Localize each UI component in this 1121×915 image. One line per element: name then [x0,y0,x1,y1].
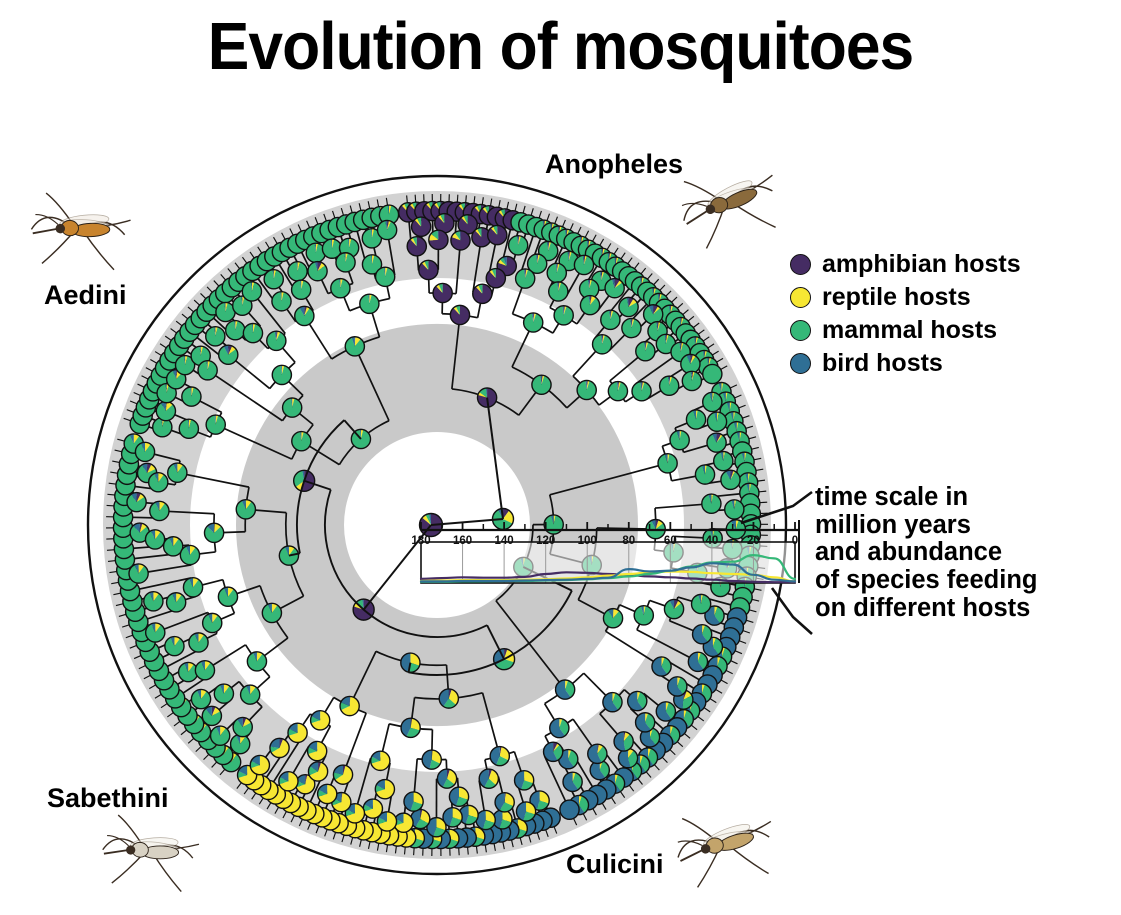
legend-item-reptile: reptile hosts [790,281,1090,314]
legend-label-bird: bird hosts [822,351,943,376]
legend-swatch-bird [790,353,811,374]
legend-label-reptile: reptile hosts [822,285,971,310]
legend-label-amphibian: amphibian hosts [822,252,1021,277]
svg-text:40: 40 [705,535,718,547]
chart-annotation: time scale in million years and abundanc… [815,484,1115,622]
legend-swatch-mammal [790,320,811,341]
annotation-line-2: million years [815,512,1115,540]
host-legend: amphibian hosts reptile hosts mammal hos… [790,248,1090,380]
legend-item-amphibian: amphibian hosts [790,248,1090,281]
legend-swatch-reptile [790,287,811,308]
svg-text:120: 120 [536,535,555,547]
timescale-abundance-chart: 180160140120100806040200 [411,520,799,583]
svg-text:80: 80 [622,535,635,547]
legend-swatch-amphibian [790,254,811,275]
clade-label-sabethini: Sabethini [47,783,169,814]
phylogeny-figure: 180160140120100806040200 [0,0,1121,915]
annotation-line-1: time scale in [815,484,1115,512]
svg-text:60: 60 [664,535,677,547]
clade-label-aedini: Aedini [44,280,127,311]
svg-text:20: 20 [747,535,760,547]
clade-label-anopheles: Anopheles [545,149,683,180]
annotation-line-3: and abundance [815,539,1115,567]
svg-text:100: 100 [578,535,597,547]
svg-text:140: 140 [495,535,514,547]
annotation-line-4: of species feeding [815,567,1115,595]
legend-label-mammal: mammal hosts [822,318,997,343]
clade-label-culicini: Culicini [566,849,664,880]
svg-text:160: 160 [453,535,472,547]
legend-item-bird: bird hosts [790,347,1090,380]
legend-item-mammal: mammal hosts [790,314,1090,347]
annotation-line-5: on different hosts [815,595,1115,623]
